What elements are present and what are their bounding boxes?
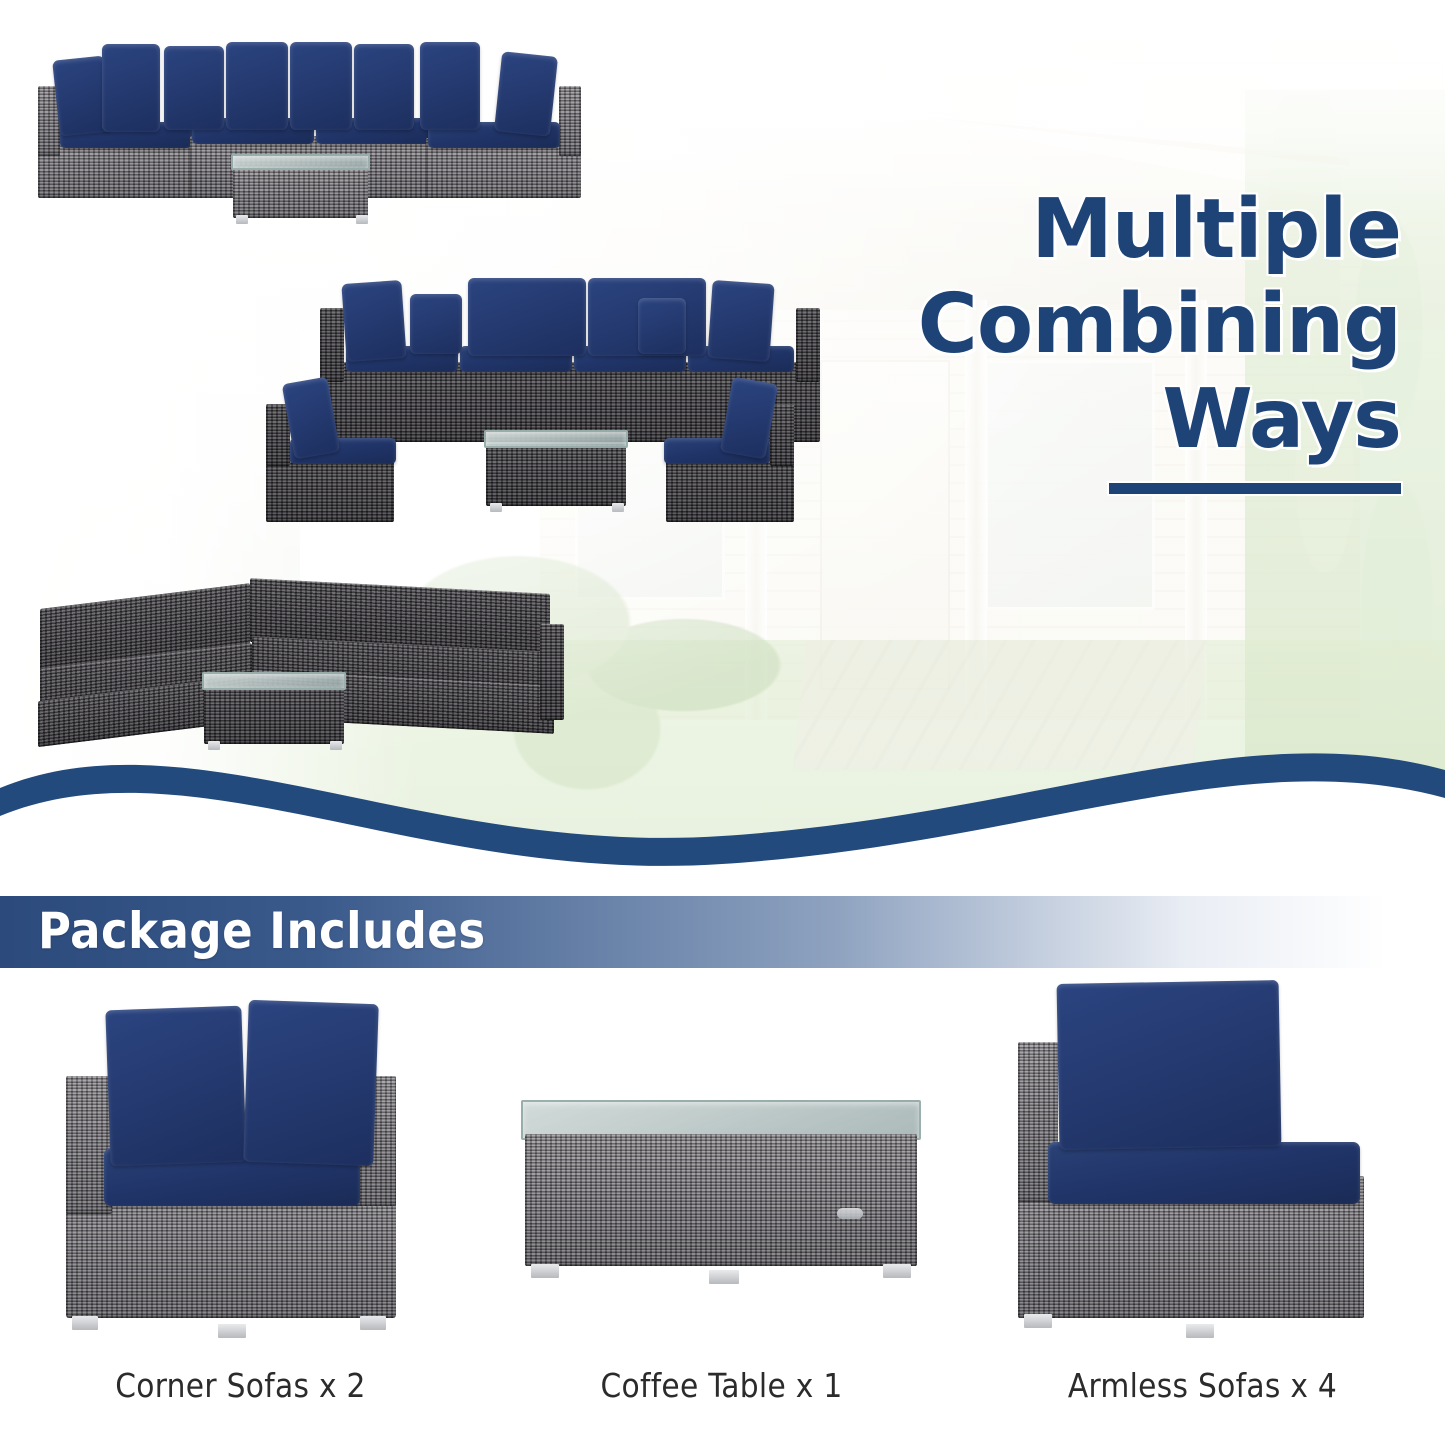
armless-sofa-foot-left [1024,1314,1052,1328]
throw-pillow-right [638,298,686,354]
coffee-table-foot-right [356,215,368,224]
l-config-table-body [204,686,344,744]
corner-sofa-foot-right [360,1316,386,1330]
corner-sofa-back-pillow-left [105,1006,246,1167]
armless-sofa-seat-cushion [1048,1142,1360,1204]
center-coffee-table-body [486,444,626,506]
l-config-table-foot-left [208,741,220,750]
corner-unit-right-arm [559,86,581,156]
back-cushion-mid-2 [226,42,288,130]
corner-sofa-back-pillow-right [243,1000,379,1166]
corner-sofa-foot-front [218,1324,246,1338]
armless-sofa-back-pillow [1057,980,1282,1150]
back-cushion-mid-3 [290,42,352,130]
package-item-armless-sofa: Armless Sofas x 4 [962,968,1443,1445]
package-items-row: Corner Sofas x 2 Coffee Table x 1 Armles… [0,968,1445,1445]
long-sofa-back-4 [707,280,774,362]
headline-line-3: Ways [901,372,1401,467]
l-config-table-glass [202,672,346,690]
l-config-table-foot-right [330,741,342,750]
throw-pillow-left [410,294,462,354]
headline-line-1: Multiple [901,182,1401,277]
package-item-coffee-table: Coffee Table x 1 [481,968,962,1445]
back-pillow-right-a [420,42,480,130]
configuration-u-shaped-sectional [28,18,588,218]
corner-sofa-caption: Corner Sofas x 2 [0,1366,481,1405]
armless-sofa-illustration [962,968,1443,1368]
long-sofa-back-2 [468,278,586,356]
coffee-table-foot-left [236,215,248,224]
coffee-table-frame [525,1134,917,1266]
right-chair-arm [770,404,794,466]
coffee-table-glass [231,154,370,170]
center-table-foot-right [612,503,624,512]
coffee-table-illustration [481,968,962,1368]
armless-sofa-caption: Armless Sofas x 4 [962,1366,1443,1405]
back-cushion-mid-1 [164,46,224,130]
configuration-l-shaped-frames [28,578,598,758]
coffee-table-body [233,166,368,218]
configuration-facing-sofa-and-chairs [258,262,858,532]
corner-sofa-foot-left [72,1316,98,1330]
coffee-table-foot-br [883,1264,911,1278]
armless-sofa-foot-right [1186,1324,1214,1338]
hero-section: Multiple Combining Ways [0,0,1445,880]
headline-underline [1109,483,1401,494]
long-sofa-arm-left [320,308,344,382]
package-includes-title: Package Includes [38,902,486,960]
wave-divider [0,752,1445,892]
headline-line-2: Combining [901,277,1401,372]
corner-sofa-illustration [0,968,481,1368]
coffee-table-foot-bl [531,1264,559,1278]
l-frame-arm-right [540,624,564,720]
center-table-foot-left [490,503,502,512]
coffee-table-caption: Coffee Table x 1 [481,1366,962,1405]
long-sofa-arm-right [796,308,820,382]
package-item-corner-sofa: Corner Sofas x 2 [0,968,481,1445]
back-cushion-mid-4 [354,44,414,130]
center-coffee-table-glass [484,430,628,448]
long-sofa-back-1 [341,280,406,362]
package-includes-banner: Package Includes [0,896,1445,968]
back-pillow-right-b [494,51,558,136]
coffee-table-brand-badge [837,1208,863,1219]
back-pillow-left-b [102,44,160,132]
coffee-table-foot-front [709,1270,739,1284]
headline: Multiple Combining Ways [901,182,1401,494]
